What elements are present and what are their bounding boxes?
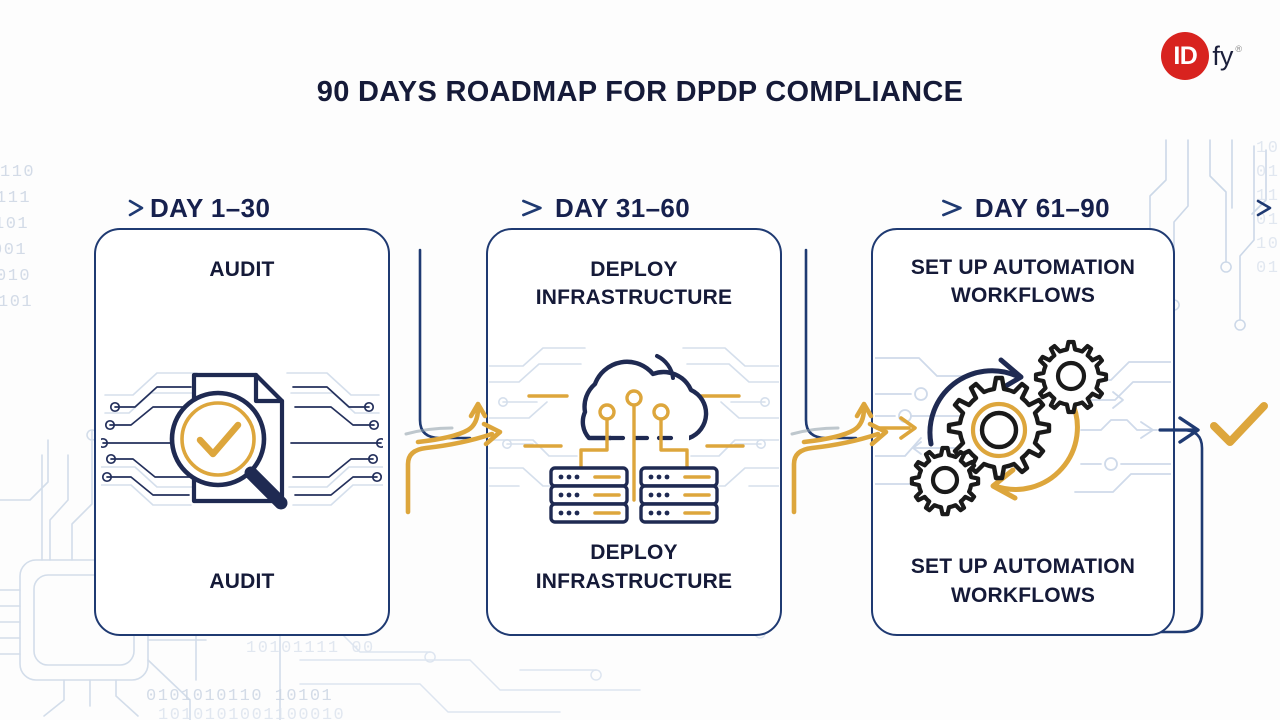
svg-text:10: 10 <box>1256 235 1279 254</box>
svg-text:110: 110 <box>0 163 35 182</box>
gold-checkmark-icon <box>1206 398 1272 455</box>
timeline-header: DAY 1–30 DAY 31–60 <box>0 186 1280 230</box>
card-deploy-infrastructure[interactable]: DEPLOY INFRASTRUCTURE <box>486 228 782 636</box>
gears-automation-cycle-icon <box>873 330 1173 530</box>
svg-text:10: 10 <box>1256 139 1279 158</box>
logo-circle-icon: ID <box>1161 32 1209 80</box>
infographic-canvas: 110 111 101 001 010 101 10101111 00 0101… <box>0 0 1280 720</box>
timeline-arrow-0 <box>0 196 150 220</box>
document-magnifier-check-icon <box>96 334 388 524</box>
card-deploy-heading: DEPLOY INFRASTRUCTURE <box>498 256 770 313</box>
svg-text:101: 101 <box>0 293 33 312</box>
card-automation-footer: SET UP AUTOMATION WORKFLOWS <box>887 553 1159 610</box>
timeline-label-1: DAY 31–60 <box>555 193 690 224</box>
card-automation-workflows[interactable]: SET UP AUTOMATION WORKFLOWS <box>871 228 1175 636</box>
card-audit-heading: AUDIT <box>106 256 378 284</box>
logo-mark-text: ID <box>1173 44 1197 69</box>
timeline-arrow-3 <box>1110 196 1280 220</box>
timeline-arrow-1 <box>270 196 555 220</box>
idfy-logo: ID fy ® <box>1161 32 1242 80</box>
svg-text:10101111 00: 10101111 00 <box>246 639 375 658</box>
card-audit[interactable]: AUDIT <box>94 228 390 636</box>
logo-trademark: ® <box>1235 44 1242 54</box>
timeline-label-2: DAY 61–90 <box>975 193 1110 224</box>
svg-text:010: 010 <box>0 267 31 286</box>
card-deploy-footer: DEPLOY INFRASTRUCTURE <box>502 539 766 596</box>
cloud-server-infrastructure-icon <box>488 326 780 526</box>
page-title: 90 DAYS ROADMAP FOR DPDP COMPLIANCE <box>0 76 1280 109</box>
logo-word-text: fy <box>1212 43 1233 70</box>
timeline-arrow-2 <box>690 196 975 220</box>
timeline-label-0: DAY 1–30 <box>150 193 270 224</box>
svg-text:1010101001100010: 1010101001100010 <box>158 706 345 720</box>
card-audit-footer: AUDIT <box>110 568 374 596</box>
svg-text:001: 001 <box>0 241 27 260</box>
svg-text:01: 01 <box>1256 163 1279 182</box>
svg-text:0101010110 10101: 0101010110 10101 <box>146 687 333 706</box>
svg-text:01: 01 <box>1256 259 1279 278</box>
card-automation-heading: SET UP AUTOMATION WORKFLOWS <box>883 254 1163 311</box>
